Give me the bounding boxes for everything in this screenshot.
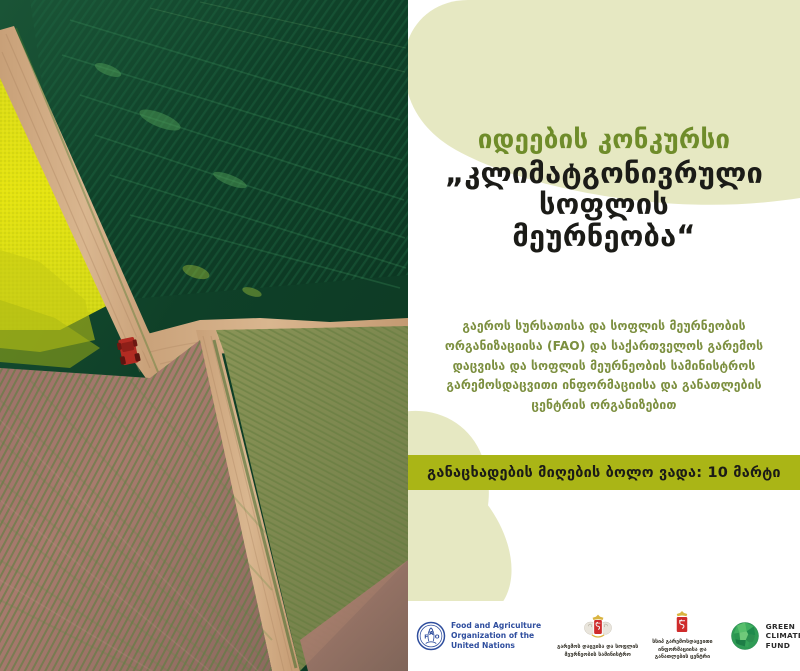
headline-line-2: „კლიმატგონივრული (414, 158, 794, 189)
aerial-farmland-photo (0, 0, 408, 671)
fao-line-1: Food and Agriculture (451, 621, 541, 631)
gcf-wordmark: GREEN CLIMATE FUND (766, 622, 800, 651)
panel-content: იდეების კონკურსი „კლიმატგონივრული სოფლის… (408, 0, 800, 671)
organizers-line-5: ცენტრის ორგანიზებით (418, 396, 790, 416)
georgia-coat-of-arms-icon (581, 613, 615, 641)
page-title: იდეების კონკურსი „კლიმატგონივრული სოფლის… (414, 126, 794, 252)
gcf-line-1: GREEN (766, 622, 800, 632)
logo-gcf: GREEN CLIMATE FUND (729, 620, 800, 652)
ministry-emblem-row (581, 613, 615, 641)
organizers-paragraph: გაეროს სურსათისა და სოფლის მეურნეობის ორ… (418, 317, 790, 416)
eiec-emblem-row (673, 610, 691, 636)
fao-emblem-icon: F A O (416, 621, 446, 651)
green-globe-icon (729, 620, 761, 652)
organizers-line-1: გაეროს სურსათისა და სოფლის მეურნეობის (418, 317, 790, 337)
headline-line-3: სოფლის (414, 189, 794, 220)
svg-text:F: F (424, 634, 428, 640)
georgia-coat-of-arms-icon (673, 610, 691, 636)
fao-line-2: Organization of the (451, 631, 541, 641)
eiec-line-3: განათლების ცენტრი (652, 654, 712, 662)
headline-line-1: იდეების კონკურსი (414, 126, 794, 154)
svg-text:A: A (429, 631, 434, 637)
poster-root: იდეების კონკურსი „კლიმატგონივრული სოფლის… (0, 0, 800, 671)
logo-fao: F A O Food and Agriculture Organization … (416, 621, 541, 652)
ministry-wordmark: გარემოს დაცვისა და სოფლის მეურნეობის სამ… (557, 644, 638, 660)
headline-line-4: მეურნეობა“ (414, 221, 794, 252)
organizers-line-3: დაცვისა და სოფლის მეურნეობის სამინისტროს (418, 357, 790, 377)
logo-eiec: სსიპ გარემოსდაცვითი ინფორმაციისა და განა… (652, 610, 712, 662)
gcf-line-2: CLIMATE (766, 631, 800, 641)
ministry-line-2: მეურნეობის სამინისტრო (557, 652, 638, 660)
eiec-line-1: სსიპ გარემოსდაცვითი (652, 639, 712, 647)
organizers-line-2: ორგანიზაციისა (FAO) და საქართველოს გარემ… (418, 337, 790, 357)
eiec-wordmark: სსიპ გარემოსდაცვითი ინფორმაციისა და განა… (652, 639, 712, 662)
svg-text:O: O (435, 634, 440, 640)
farmland-illustration (0, 0, 408, 671)
content-panel: იდეების კონკურსი „კლიმატგონივრული სოფლის… (408, 0, 800, 671)
logo-strip: F A O Food and Agriculture Organization … (408, 601, 800, 671)
ministry-line-1: გარემოს დაცვისა და სოფლის (557, 644, 638, 652)
fao-wordmark: Food and Agriculture Organization of the… (451, 621, 541, 652)
deadline-text: განაცხადების მიღების ბოლო ვადა: 10 მარტი (427, 465, 781, 481)
gcf-line-3: FUND (766, 641, 800, 651)
logo-ministry: გარემოს დაცვისა და სოფლის მეურნეობის სამ… (557, 613, 638, 660)
fao-line-3: United Nations (451, 641, 541, 651)
organizers-line-4: გარემოსდაცვითი ინფორმაციისა და განათლები… (418, 376, 790, 396)
deadline-banner: განაცხადების მიღების ბოლო ვადა: 10 მარტი (408, 455, 800, 490)
